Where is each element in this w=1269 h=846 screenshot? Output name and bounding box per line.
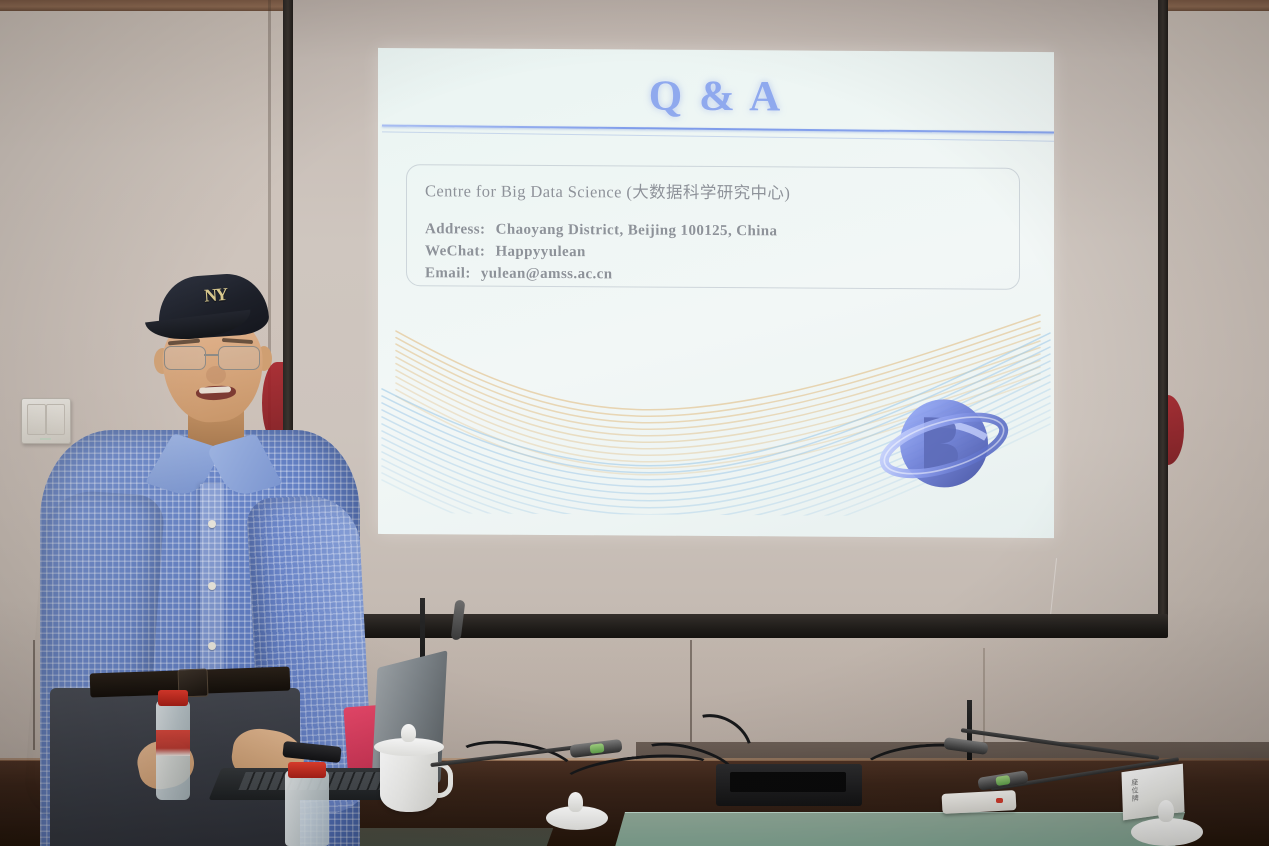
teacup-lid-knob[interactable] xyxy=(401,724,416,742)
glasses-bridge xyxy=(204,354,218,356)
water-bottle-cap[interactable] xyxy=(288,762,326,778)
cap-ny-logo: NY xyxy=(204,284,235,308)
organization-name: Centre for Big Data Science (大数据科学研究中心) xyxy=(425,177,1001,205)
teacup-lid-knob[interactable] xyxy=(568,792,583,812)
shirt-button xyxy=(208,642,216,650)
contact-row-wechat: WeChat: Happyyulean xyxy=(425,243,1001,264)
address-value: Chaoyang District, Beijing 100125, China xyxy=(490,222,778,240)
cable-box-slot xyxy=(730,772,846,792)
teacup-lid-knob[interactable] xyxy=(1158,800,1174,822)
email-label: Email: xyxy=(425,265,471,281)
globe-orbit-logo xyxy=(862,381,1022,512)
remote-control[interactable] xyxy=(942,790,1017,814)
name-card-tent: 座位牌 xyxy=(1121,764,1184,821)
water-bottle[interactable] xyxy=(285,770,329,846)
remote-control-button[interactable] xyxy=(996,798,1003,803)
contact-info-box: Centre for Big Data Science (大数据科学研究中心) … xyxy=(406,164,1020,290)
globe-orbit-logo-svg xyxy=(862,381,1022,512)
slide-title: Q & A xyxy=(378,70,1054,123)
water-bottle-label xyxy=(156,730,190,756)
slide-divider-thin xyxy=(382,131,1054,141)
screen-rail-right xyxy=(1158,0,1168,622)
email-value: yulean@amss.ac.cn xyxy=(475,266,613,283)
shirt-button xyxy=(208,520,216,528)
table-glass-inlay xyxy=(615,812,1185,846)
glasses-lens-right xyxy=(218,346,260,370)
shirt-button xyxy=(208,582,216,590)
name-card-text: 座位牌 xyxy=(1130,778,1140,803)
presenter: NY xyxy=(30,270,370,846)
projected-slide: Q & A Centre for Big Data Science (大数据科学… xyxy=(378,48,1054,538)
water-bottle-cap[interactable] xyxy=(158,690,188,706)
wechat-label: WeChat: xyxy=(425,243,485,259)
presenter-glasses xyxy=(160,346,268,370)
microphone-band xyxy=(590,743,605,754)
screen-bottom-bar xyxy=(283,614,1168,638)
contact-row-address: Address: Chaoyang District, Beijing 1001… xyxy=(425,221,1001,242)
teacup-lid[interactable] xyxy=(1131,818,1203,846)
wechat-value: Happyyulean xyxy=(489,244,585,261)
contact-row-email: Email: yulean@amss.ac.cn xyxy=(425,265,1001,286)
address-label: Address: xyxy=(425,221,485,237)
glasses-lens-left xyxy=(164,346,206,370)
conference-room-photo: Q & A Centre for Big Data Science (大数据科学… xyxy=(0,0,1269,846)
